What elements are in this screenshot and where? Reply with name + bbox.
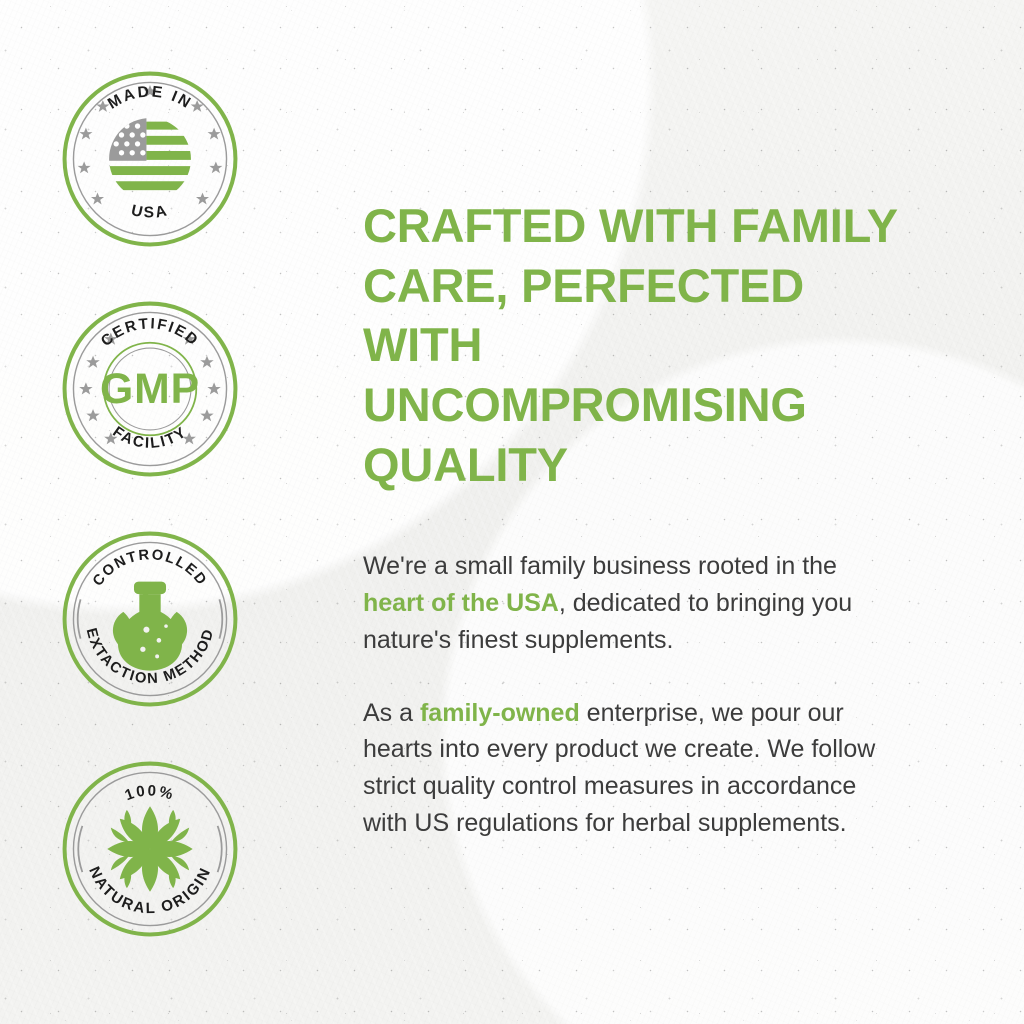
- flask-with-leaves-icon: [113, 582, 187, 671]
- leaf-rosette-icon: [107, 806, 192, 891]
- paragraph-2-highlight: family-owned: [420, 699, 580, 727]
- content-wrapper: MADE IN USA: [0, 0, 1024, 1024]
- badge-top-label: 100%: [123, 782, 177, 804]
- left-accent-arc: [78, 826, 82, 872]
- usa-flag-circle-icon: [109, 118, 196, 200]
- right-accent-arc: [218, 826, 222, 872]
- badge-gmp-certified-facility: GMP CERTIFIED FACILITY: [61, 300, 239, 478]
- badge-top-label: MADE IN: [105, 83, 195, 112]
- badge-made-in-usa: MADE IN USA: [61, 70, 239, 248]
- badge-controlled-extraction-method: CONTROLLED EXTACTION METHOD: [61, 530, 239, 708]
- badge-bottom-label: FACILITY: [109, 423, 190, 452]
- badge-bottom-label: USA: [130, 202, 171, 222]
- promo-panel: MADE IN USA: [0, 0, 1024, 1024]
- badge-natural-origin: 100% NATURAL ORIGIN: [61, 760, 239, 938]
- paragraph-2-text-before: As a: [363, 699, 420, 727]
- left-accent-arc: [78, 599, 81, 638]
- body-paragraph-1: We're a small family business rooted in …: [363, 548, 883, 658]
- page-title: CRAFTED WITH FAMILY CARE, PERFECTED WITH…: [363, 196, 904, 494]
- paragraph-1-highlight: heart of the USA: [363, 589, 559, 617]
- gmp-label: GMP: [100, 365, 200, 413]
- right-accent-arc: [219, 599, 222, 638]
- trust-badge-column: MADE IN USA: [0, 0, 300, 1024]
- marketing-copy-column: CRAFTED WITH FAMILY CARE, PERFECTED WITH…: [300, 0, 1024, 1024]
- paragraph-1-text-before: We're a small family business rooted in …: [363, 552, 837, 580]
- badge-top-label: CERTIFIED: [98, 315, 203, 350]
- body-paragraph-2: As a family-owned enterprise, we pour ou…: [363, 695, 903, 842]
